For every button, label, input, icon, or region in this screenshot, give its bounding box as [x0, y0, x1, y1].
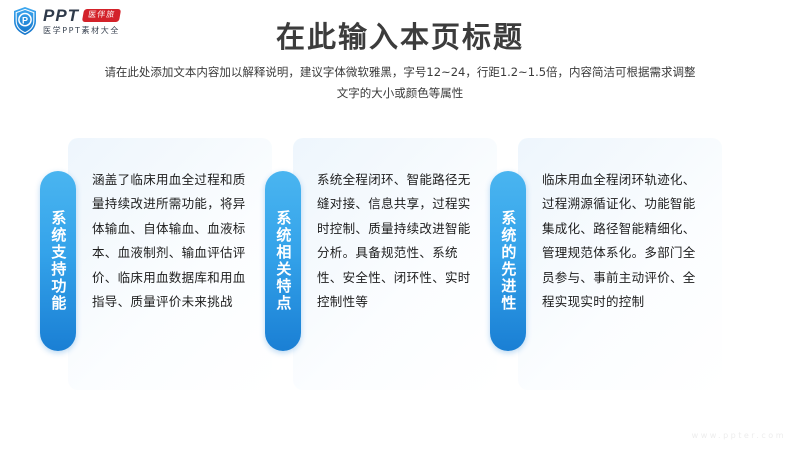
card-3[interactable]: 系统的先进性 临床用血全程闭环轨迹化、过程溯源循证化、功能智能集成化、路径智能精… — [490, 138, 722, 390]
card-label-pill[interactable]: 系统支持功能 — [40, 171, 76, 351]
card-label-text: 系统的先进性 — [499, 210, 518, 312]
card-label-text: 系统支持功能 — [49, 210, 68, 312]
card-body-text: 系统全程闭环、智能路径无缝对接、信息共享，过程实时控制、质量持续改进智能分析。具… — [317, 168, 475, 314]
page-subtitle: 请在此处添加文本内容加以解释说明，建议字体微软雅黑，字号12~24，行距1.2~… — [100, 62, 700, 105]
card-label-pill[interactable]: 系统的先进性 — [490, 171, 526, 351]
card-label-pill[interactable]: 系统相关特点 — [265, 171, 301, 351]
card-label-text: 系统相关特点 — [274, 210, 293, 312]
card-body-text: 临床用血全程闭环轨迹化、过程溯源循证化、功能智能集成化、路径智能精细化、管理规范… — [542, 168, 700, 314]
card-1[interactable]: 系统支持功能 涵盖了临床用血全过程和质量持续改进所需功能，将异体输血、自体输血、… — [40, 138, 272, 390]
page-title: 在此输入本页标题 — [0, 14, 800, 56]
cards-container: 系统支持功能 涵盖了临床用血全过程和质量持续改进所需功能，将异体输血、自体输血、… — [0, 138, 800, 393]
card-body-text: 涵盖了临床用血全过程和质量持续改进所需功能，将异体输血、自体输血、血液标本、血液… — [92, 168, 250, 314]
site-watermark: www.ppter.com — [692, 431, 786, 440]
card-2[interactable]: 系统相关特点 系统全程闭环、智能路径无缝对接、信息共享，过程实时控制、质量持续改… — [265, 138, 497, 390]
